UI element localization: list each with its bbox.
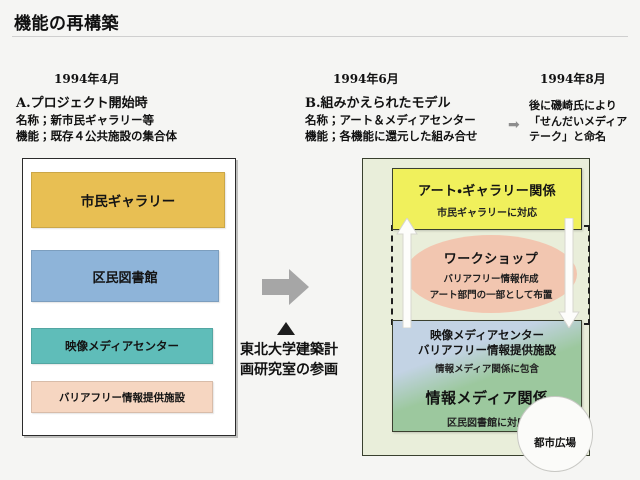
- model-ellipse-workshop[interactable]: ワークショップ バリアフリー情報作成 アート部門の一部として布置: [405, 235, 577, 313]
- model-ellipse-workshop-subtitle1: バリアフリー情報作成: [443, 271, 538, 285]
- caption-after-line2: 名称；アート＆メディアセンター: [305, 112, 478, 128]
- up-arrow-icon: [396, 218, 418, 328]
- caption-after-lead: B.組みかえられたモデル: [305, 96, 478, 112]
- model-box-art-gallery-subtitle: 市民ギャラリーに対応: [437, 204, 537, 219]
- caption-after-line3: 機能；各機能に還元した組み合せ: [305, 128, 478, 144]
- naming-note-line2: 「せんだいメディア: [529, 114, 627, 130]
- caption-after: B.組みかえられたモデル 名称；アート＆メディアセンター 機能；各機能に還元した…: [305, 96, 478, 144]
- model-box-art-gallery-title: アート・ギャラリー関係: [418, 180, 556, 199]
- caption-before: A.プロジェクト開始時 名称；新市民ギャラリー等 機能；既存４公共施設の集合体: [16, 96, 177, 144]
- model-ellipse-workshop-subtitle2: アート部門の一部として布置: [430, 287, 553, 301]
- model-box-info-line3: 情報メディア関係に包含: [435, 361, 539, 375]
- model-box-info-line2: バリアフリー情報提供施設: [418, 343, 556, 358]
- caption-before-line2: 名称；新市民ギャラリー等: [16, 112, 177, 128]
- urban-plaza-circle[interactable]: 都市広場: [517, 396, 593, 472]
- date-label-naming: 1994年8月: [540, 70, 606, 87]
- down-arrow-icon: [558, 218, 580, 328]
- naming-note-line3: テーク」と命名: [529, 129, 627, 145]
- facility-box-barrier-free-info[interactable]: バリアフリー情報提供施設: [31, 381, 213, 413]
- model-box-info-line1: 映像メディアセンター: [430, 328, 544, 343]
- up-triangle-icon: [277, 322, 295, 335]
- facility-box-video-media-center[interactable]: 映像メディアセンター: [31, 328, 213, 364]
- model-box-info-line5: 区民図書館に対応: [447, 414, 527, 429]
- naming-note: 後に磯崎氏により 「せんだいメディア テーク」と命名: [529, 98, 627, 145]
- participation-note-line2: 画研究室の参画: [240, 360, 358, 380]
- slide-canvas: 機能の再構築 1994年4月 1994年6月 1994年8月 A.プロジェクト開…: [0, 0, 640, 480]
- page-title: 機能の再構築: [14, 9, 119, 34]
- facility-box-ward-library[interactable]: 区民図書館: [31, 250, 219, 302]
- date-label-after: 1994年6月: [333, 70, 399, 87]
- caption-before-lead: A.プロジェクト開始時: [16, 96, 177, 112]
- participation-note-line1: 東北大学建築計: [240, 340, 358, 360]
- facility-box-civic-gallery[interactable]: 市民ギャラリー: [31, 172, 225, 228]
- right-arrow-icon: ➡: [508, 118, 520, 132]
- urban-plaza-label: 都市広場: [534, 435, 576, 450]
- model-ellipse-workshop-title: ワークショップ: [444, 248, 539, 267]
- date-label-before: 1994年4月: [54, 70, 120, 87]
- model-box-art-gallery[interactable]: アート・ギャラリー関係 市民ギャラリーに対応: [392, 168, 582, 230]
- caption-before-line3: 機能；既存４公共施設の集合体: [16, 128, 177, 144]
- right-block-arrow-icon: [262, 268, 310, 306]
- participation-note: 東北大学建築計 画研究室の参画: [240, 340, 358, 380]
- naming-note-line1: 後に磯崎氏により: [529, 98, 627, 114]
- title-divider: [12, 36, 628, 37]
